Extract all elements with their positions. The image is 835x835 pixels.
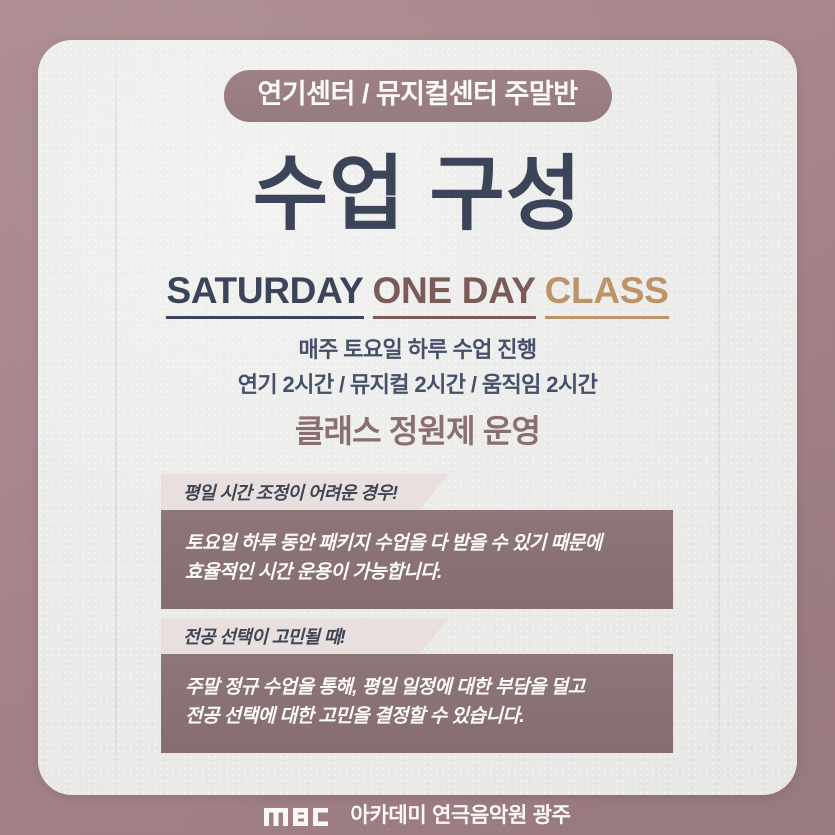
page-title: 수업 구성 bbox=[38, 154, 797, 236]
headline-segment-saturday: SATURDAY bbox=[166, 272, 363, 319]
footer-text: 아카데미 연극음악원 광주 bbox=[350, 805, 570, 826]
headline-segment-oneday: ONE DAY bbox=[373, 272, 536, 319]
category-badge: 연기센터 / 뮤지컬센터 주말반 bbox=[223, 70, 611, 122]
english-headline: SATURDAYONE DAYCLASS bbox=[38, 272, 797, 319]
info-card-body-line: 전공 선택에 대한 고민을 결정할 수 있습니다. bbox=[185, 702, 649, 731]
headline-segment-class: CLASS bbox=[545, 272, 669, 319]
info-card-tab: 평일 시간 조정이 어려운 경우! bbox=[161, 474, 449, 510]
info-card-tab: 전공 선택이 고민될 때! bbox=[161, 618, 449, 654]
subline-schedule: 매주 토요일 하루 수업 진행 bbox=[38, 339, 797, 361]
info-card: 평일 시간 조정이 어려운 경우! 토요일 하루 동안 패키지 수업을 다 받을… bbox=[161, 474, 673, 609]
poster-canvas: 연기센터 / 뮤지컬센터 주말반 수업 구성 SATURDAYONE DAYCL… bbox=[0, 0, 835, 835]
info-card-body: 토요일 하루 동안 패키지 수업을 다 받을 수 있기 때문에 효율적인 시간 … bbox=[161, 510, 673, 609]
poster-content: 연기센터 / 뮤지컬센터 주말반 수업 구성 SATURDAYONE DAYCL… bbox=[38, 40, 797, 795]
info-card-tab-label: 전공 선택이 고민될 때! bbox=[183, 623, 345, 649]
footer-branding: 아카데미 연극음악원 광주 bbox=[0, 795, 835, 835]
info-card-body-line: 효율적인 시간 운용이 가능합니다. bbox=[185, 558, 649, 587]
info-card-body: 주말 정규 수업을 통해, 평일 일정에 대한 부담을 덜고 전공 선택에 대한… bbox=[161, 654, 673, 753]
poster-card: 연기센터 / 뮤지컬센터 주말반 수업 구성 SATURDAYONE DAYCL… bbox=[38, 40, 797, 795]
info-card: 전공 선택이 고민될 때! 주말 정규 수업을 통해, 평일 일정에 대한 부담… bbox=[161, 618, 673, 753]
highlight-capacity: 클래스 정원제 운영 bbox=[38, 415, 797, 447]
info-card-body-line: 주말 정규 수업을 통해, 평일 일정에 대한 부담을 덜고 bbox=[185, 673, 649, 702]
info-card-tab-label: 평일 시간 조정이 어려운 경우! bbox=[183, 479, 398, 505]
mbc-logo-icon bbox=[264, 805, 342, 826]
subline-hours: 연기 2시간 / 뮤지컬 2시간 / 움직임 2시간 bbox=[38, 374, 797, 396]
info-card-body-line: 토요일 하루 동안 패키지 수업을 다 받을 수 있기 때문에 bbox=[185, 529, 649, 558]
